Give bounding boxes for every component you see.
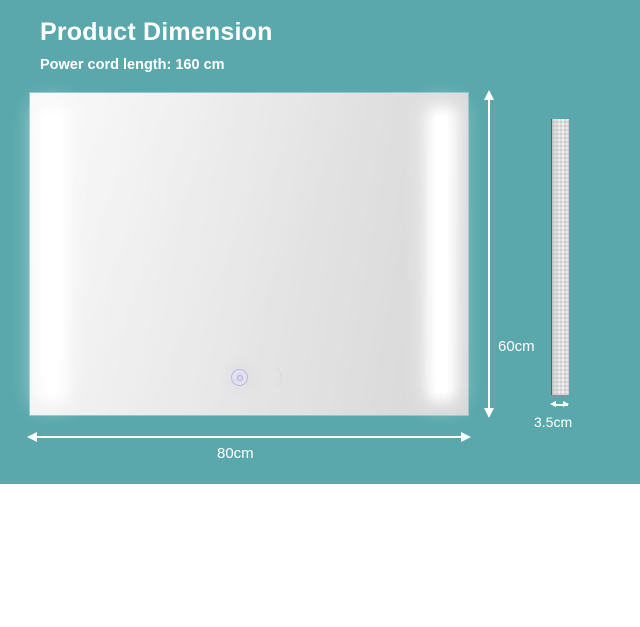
arrow-right-icon bbox=[461, 432, 471, 442]
touch-sensor-icon bbox=[231, 369, 248, 386]
accessories-panel: Mounting Accessories Included bbox=[0, 484, 640, 627]
led-strip-left-icon bbox=[46, 115, 59, 393]
led-strip-right-icon bbox=[435, 115, 448, 393]
height-dimension-line bbox=[488, 93, 490, 415]
power-cord-length-label: Power cord length: 160 cm bbox=[40, 57, 225, 73]
page-title: Product Dimension bbox=[40, 18, 273, 47]
dimension-panel: Product Dimension Power cord length: 160… bbox=[0, 0, 640, 484]
arrow-left-icon bbox=[27, 432, 37, 442]
height-dimension-label: 60cm bbox=[498, 338, 535, 355]
arrow-down-icon bbox=[484, 408, 494, 418]
depth-dimension-label: 3.5cm bbox=[534, 414, 572, 430]
arrow-small-left-icon bbox=[550, 401, 556, 407]
arrow-up-icon bbox=[484, 90, 494, 100]
width-dimension-label: 80cm bbox=[217, 445, 254, 462]
arrow-small-right-icon bbox=[563, 401, 569, 407]
width-dimension-line bbox=[30, 436, 468, 438]
mirror-glass-sheen bbox=[30, 93, 468, 415]
mirror-front-view bbox=[30, 93, 468, 415]
product-dimension-infographic: Product Dimension Power cord length: 160… bbox=[0, 0, 640, 627]
mirror-side-view bbox=[551, 119, 569, 395]
touch-sensor-ripple-icon bbox=[256, 365, 282, 391]
